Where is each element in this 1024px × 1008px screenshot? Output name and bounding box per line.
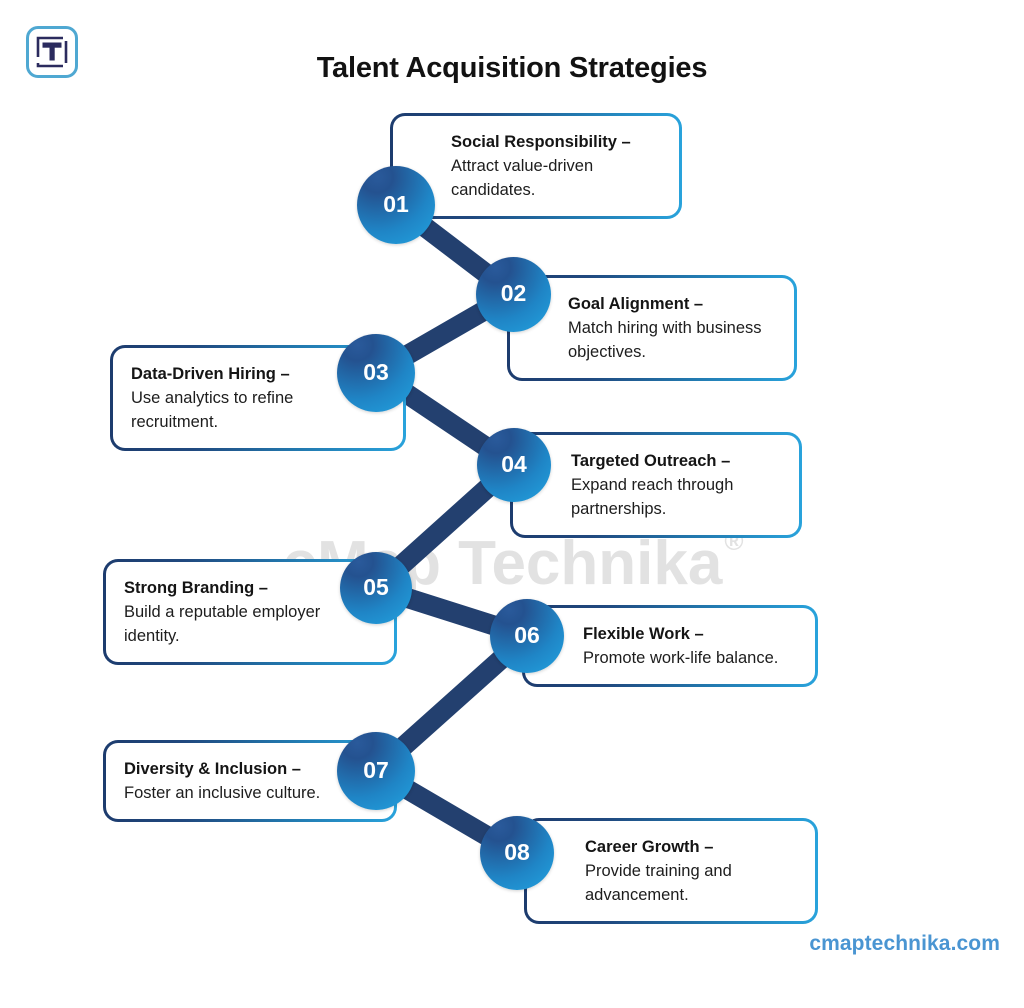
step-number-01[interactable]: 01: [357, 166, 435, 244]
step-title-06: Flexible Work –: [583, 622, 797, 646]
step-body-08: Provide training and advancement.: [585, 859, 797, 907]
step-card-08[interactable]: Career Growth – Provide training and adv…: [524, 818, 818, 924]
step-number-07[interactable]: 07: [337, 732, 415, 810]
step-title-04: Targeted Outreach –: [571, 449, 781, 473]
page-title: Talent Acquisition Strategies: [0, 52, 1024, 85]
step-number-label-06: 06: [514, 622, 540, 649]
footer-website-link[interactable]: cmaptechnika.com: [809, 932, 1000, 956]
step-body-04: Expand reach through partnerships.: [571, 473, 781, 521]
step-body-01: Attract value-driven candidates.: [451, 154, 661, 202]
step-number-02[interactable]: 02: [476, 257, 551, 332]
step-card-06[interactable]: Flexible Work – Promote work-life balanc…: [522, 605, 818, 687]
step-number-label-01: 01: [383, 191, 409, 218]
step-title-01: Social Responsibility –: [451, 130, 661, 154]
step-number-08[interactable]: 08: [480, 816, 554, 890]
step-body-07: Foster an inclusive culture.: [124, 781, 332, 805]
step-card-04[interactable]: Targeted Outreach – Expand reach through…: [510, 432, 802, 538]
step-body-03: Use analytics to refine recruitment.: [131, 386, 341, 434]
step-title-03: Data-Driven Hiring –: [131, 362, 341, 386]
step-number-03[interactable]: 03: [337, 334, 415, 412]
step-number-label-02: 02: [501, 280, 527, 307]
step-body-06: Promote work-life balance.: [583, 646, 797, 670]
step-number-05[interactable]: 05: [340, 552, 412, 624]
step-number-label-03: 03: [363, 359, 389, 386]
step-title-07: Diversity & Inclusion –: [124, 757, 332, 781]
step-number-label-07: 07: [363, 757, 389, 784]
step-body-05: Build a reputable employer identity.: [124, 600, 332, 648]
step-number-label-08: 08: [504, 839, 530, 866]
step-title-08: Career Growth –: [585, 835, 797, 859]
infographic-canvas: Talent Acquisition Strategies cMap Techn…: [0, 0, 1024, 1008]
step-title-05: Strong Branding –: [124, 576, 332, 600]
step-body-02: Match hiring with business objectives.: [568, 316, 776, 364]
step-number-label-05: 05: [363, 574, 389, 601]
step-title-02: Goal Alignment –: [568, 292, 776, 316]
step-number-06[interactable]: 06: [490, 599, 564, 673]
step-number-04[interactable]: 04: [477, 428, 551, 502]
step-number-label-04: 04: [501, 451, 527, 478]
